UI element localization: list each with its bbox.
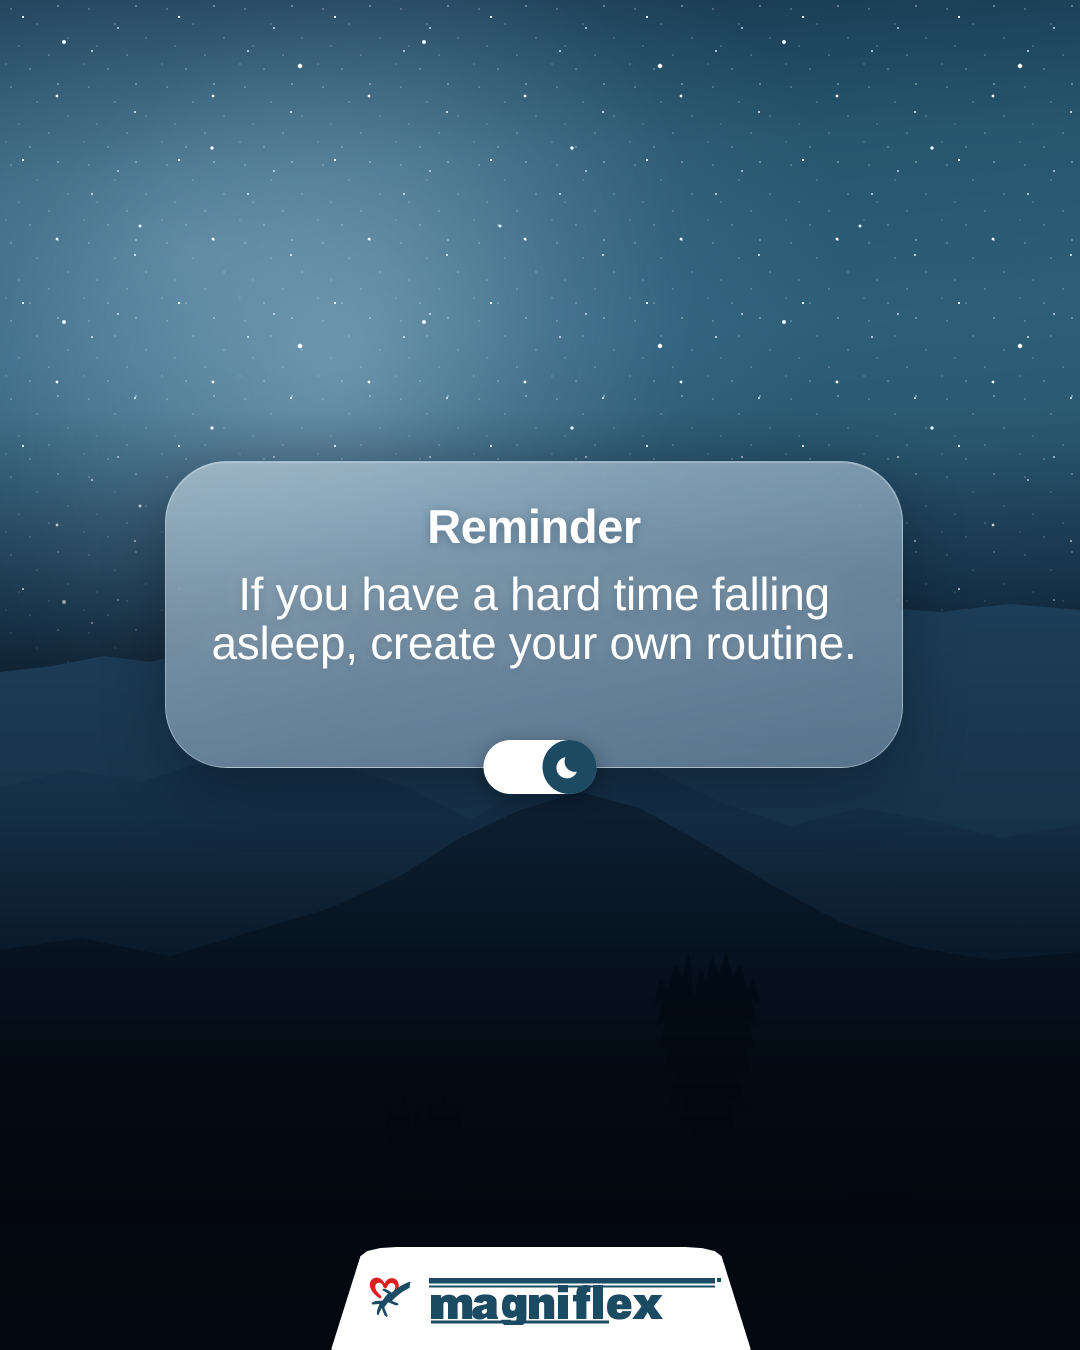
night-mode-toggle[interactable]: Night mode toggle xyxy=(484,740,597,794)
card-body-line-2: asleep, create your own routine. xyxy=(211,617,856,669)
magniflex-wordmark: magniflex xyxy=(425,1275,725,1325)
crescent-moon-icon xyxy=(554,751,586,783)
magniflex-heart-star-icon xyxy=(357,1275,411,1325)
reminder-glass-card: Reminder If you have a hard time falling… xyxy=(165,461,903,768)
card-body-text: If you have a hard time falling asleep, … xyxy=(204,570,864,668)
brand-logo-band: magniflex xyxy=(331,1247,751,1350)
brand-logo: magniflex xyxy=(331,1275,751,1325)
toggle-knob[interactable] xyxy=(543,740,597,794)
swoosh-star-icon xyxy=(372,1282,411,1317)
card-title: Reminder xyxy=(166,499,902,554)
card-body-line-1: If you have a hard time falling xyxy=(238,568,830,620)
post-canvas: Reminder If you have a hard time falling… xyxy=(0,0,1080,1350)
